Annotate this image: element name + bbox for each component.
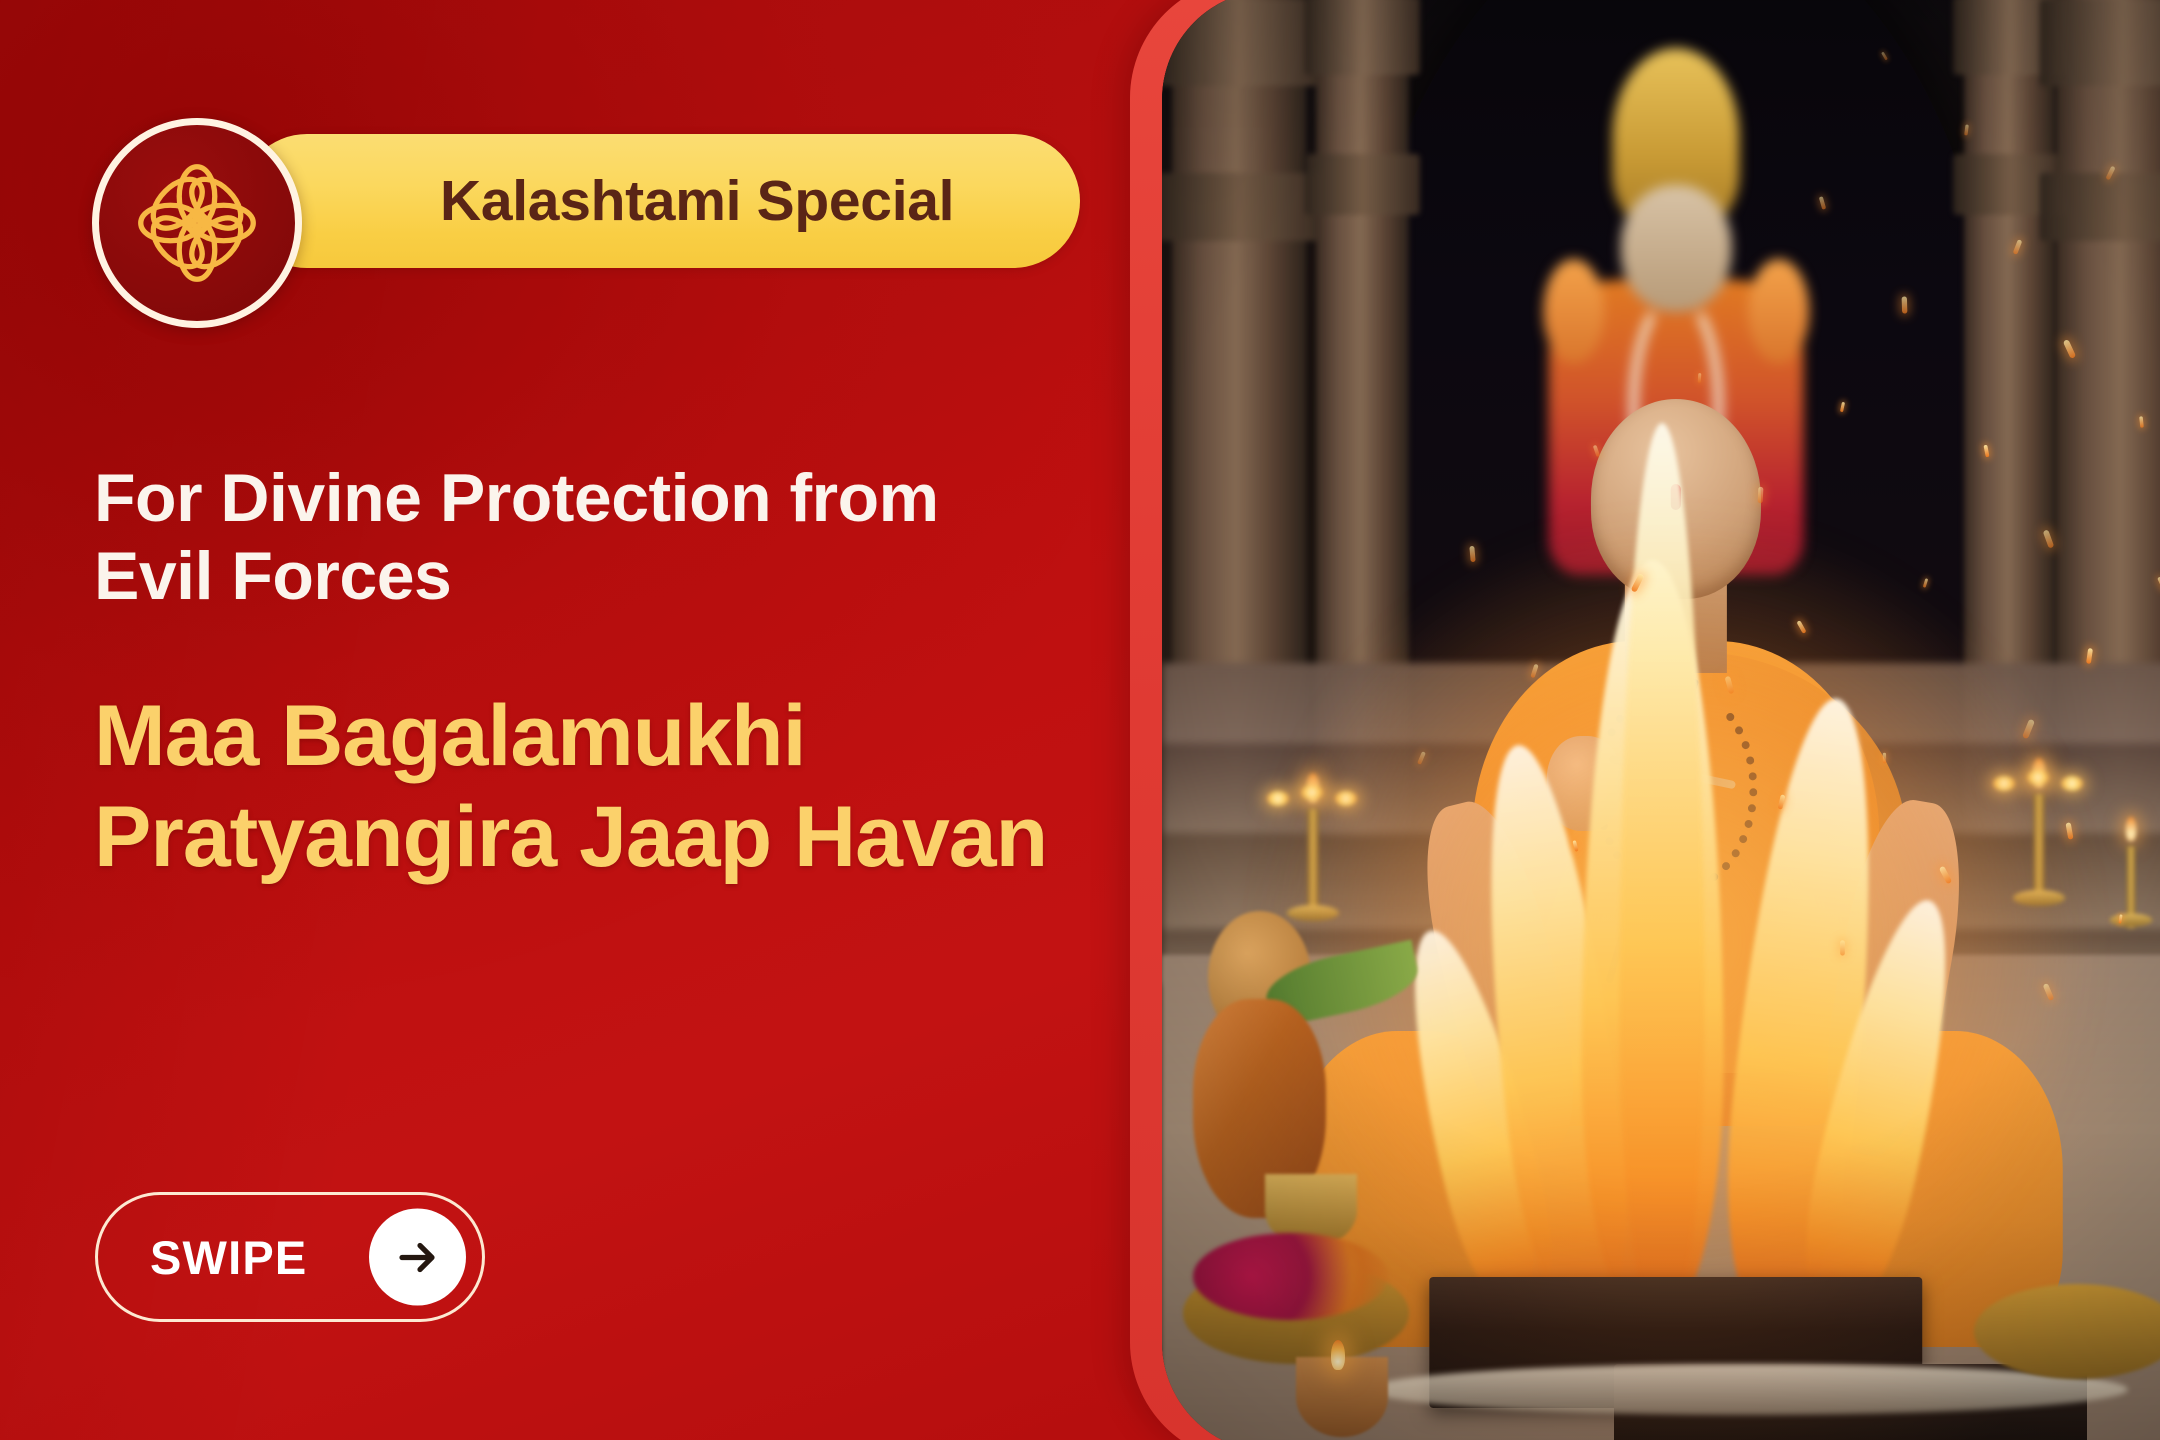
swipe-button[interactable]: SWIPE — [95, 1192, 485, 1322]
idol-arm — [1543, 259, 1604, 364]
spark — [1697, 373, 1701, 383]
rose-petals-and-marigold — [1193, 1233, 1388, 1321]
ritual-photo — [1162, 0, 2160, 1440]
page-title: Maa Bagalamukhi Pratyangira Jaap Havan — [94, 686, 1074, 889]
lamp-flame — [2126, 817, 2137, 842]
spark — [1841, 941, 1846, 956]
arrow-right-icon — [394, 1233, 442, 1281]
swipe-button-label: SWIPE — [150, 1230, 307, 1285]
swipe-arrow-circle[interactable] — [369, 1209, 466, 1306]
spark — [1882, 753, 1885, 764]
brand-logo — [92, 118, 302, 328]
lamp-base — [2110, 913, 2153, 926]
lotus-flower-icon — [123, 149, 271, 297]
diya-flame — [1331, 1340, 1345, 1370]
lamp-flame — [1267, 791, 1289, 806]
idol-arm — [1748, 259, 1809, 364]
spark — [1902, 296, 1908, 313]
promo-slide: Kalashtami Special For Divine Protection… — [0, 0, 2160, 1440]
subtitle: For Divine Protection from Evil Forces — [94, 460, 1074, 615]
oil-lamp-stand — [2100, 846, 2160, 921]
diya-lamp — [1296, 1357, 1389, 1437]
badge-label: Kalashtami Special — [440, 134, 1080, 268]
lamp-flame — [2061, 776, 2083, 791]
spark — [2139, 416, 2144, 428]
